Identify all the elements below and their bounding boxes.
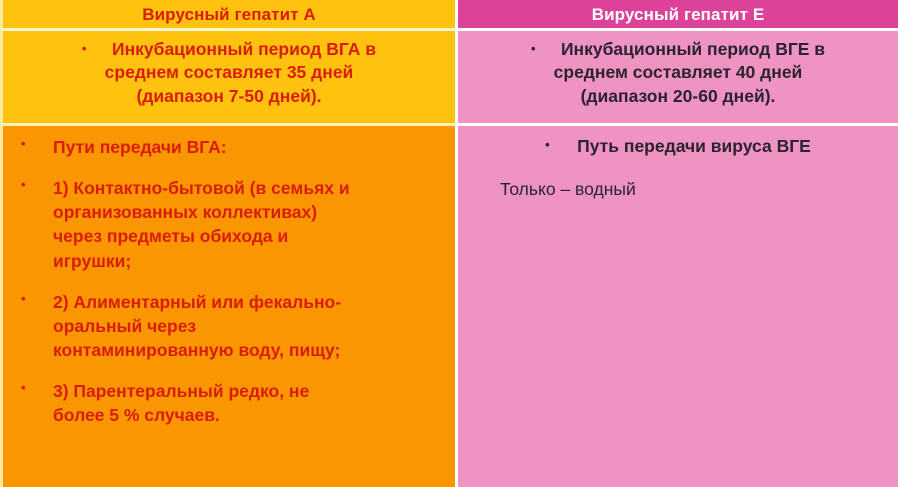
column-header-hepatitis-a: Вирусный гепатит А	[0, 0, 455, 28]
bullet-icon: •	[21, 379, 26, 398]
bullet-icon: •	[21, 135, 26, 154]
list-item: • 1) Контактно-бытовой (в семьях и орган…	[13, 176, 445, 273]
transmission-title-hepatitis-e: Путь передачи вируса ВГЕ	[577, 136, 811, 156]
table-row-transmission-routes: • Пути передачи ВГА: • 1) Контактно-быто…	[0, 123, 898, 487]
incubation-line-1-text: Инкубационный период ВГА в	[112, 39, 376, 59]
transmission-block-hepatitis-e: •Путь передачи вируса ВГЕ Только – водны…	[458, 126, 898, 201]
incubation-line-3: (диапазон 20-60 дней).	[474, 85, 882, 108]
transmission-route-2-line-3: контаминированную воду, пищу;	[53, 340, 340, 360]
table-row-incubation-period: •Инкубационный период ВГА в среднем сост…	[0, 28, 898, 123]
transmission-route-1-line-2: организованных коллективах)	[53, 202, 317, 222]
transmission-route-1-line-3: через предметы обихода и	[53, 226, 288, 246]
list-item: • 2) Алиментарный или фекально- оральный…	[13, 290, 445, 362]
bullet-icon: •	[21, 176, 26, 195]
incubation-text-hepatitis-a: •Инкубационный период ВГА в среднем сост…	[3, 31, 455, 108]
transmission-route-2-line-2: оральный через	[53, 316, 196, 336]
column-header-hepatitis-e: Вирусный гепатит Е	[455, 0, 898, 28]
transmission-title-row: •Путь передачи вируса ВГЕ	[472, 134, 884, 159]
comparison-table: Вирусный гепатит А Вирусный гепатит Е •И…	[0, 0, 898, 487]
transmission-route-3-line-2: более 5 % случаев.	[53, 405, 220, 425]
bullet-icon: •	[21, 290, 26, 309]
transmission-route-1-line-4: игрушки;	[53, 251, 131, 271]
bullet-icon: •	[545, 136, 577, 154]
transmission-list-hepatitis-a: • Пути передачи ВГА: • 1) Контактно-быто…	[3, 126, 455, 427]
transmission-title-hepatitis-a: Пути передачи ВГА:	[53, 137, 227, 157]
incubation-line-3: (диапазон 7-50 дней).	[19, 85, 439, 108]
list-item: • Пути передачи ВГА:	[13, 135, 445, 159]
bullet-icon: •	[531, 40, 561, 57]
cell-transmission-hepatitis-e: •Путь передачи вируса ВГЕ Только – водны…	[455, 123, 898, 487]
list-item: • 3) Парентеральный редко, не более 5 % …	[13, 379, 445, 427]
incubation-line-1-text: Инкубационный период ВГЕ в	[561, 39, 825, 59]
cell-transmission-hepatitis-a: • Пути передачи ВГА: • 1) Контактно-быто…	[0, 123, 455, 487]
table-header-row: Вирусный гепатит А Вирусный гепатит Е	[0, 0, 898, 28]
bullet-icon: •	[82, 40, 112, 57]
incubation-line-1: •Инкубационный период ВГА в	[19, 38, 439, 61]
transmission-note-hepatitis-e: Только – водный	[472, 177, 884, 202]
cell-incubation-hepatitis-a: •Инкубационный период ВГА в среднем сост…	[0, 28, 455, 123]
incubation-line-1: •Инкубационный период ВГЕ в	[474, 38, 882, 61]
transmission-route-3-line-1: 3) Парентеральный редко, не	[53, 381, 309, 401]
transmission-route-1-line-1: 1) Контактно-бытовой (в семьях и	[53, 178, 350, 198]
cell-incubation-hepatitis-e: •Инкубационный период ВГЕ в среднем сост…	[455, 28, 898, 123]
transmission-route-2-line-1: 2) Алиментарный или фекально-	[53, 292, 341, 312]
incubation-line-2: среднем составляет 35 дней	[19, 61, 439, 84]
incubation-line-2: среднем составляет 40 дней	[474, 61, 882, 84]
incubation-text-hepatitis-e: •Инкубационный период ВГЕ в среднем сост…	[458, 31, 898, 108]
